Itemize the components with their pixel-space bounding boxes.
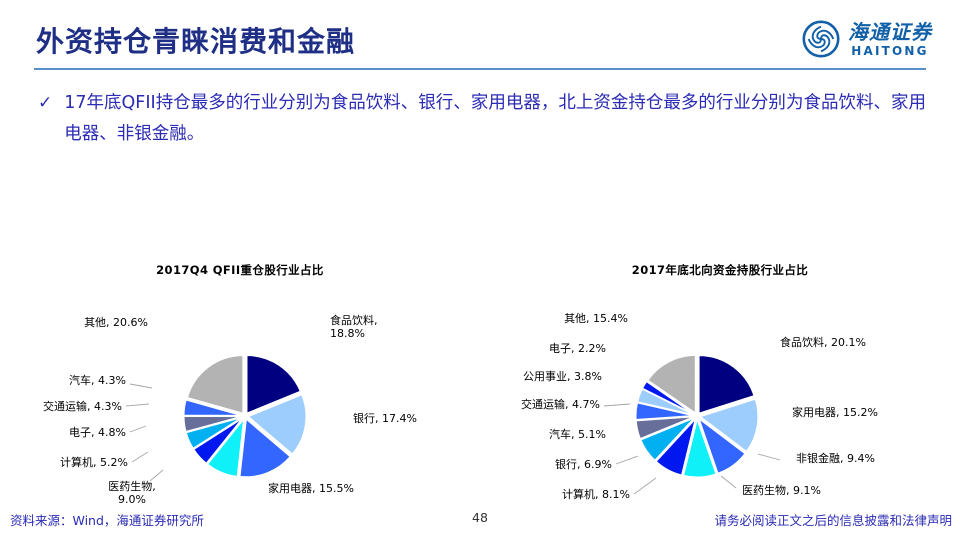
haitong-logo: 海通证券 HAITONG xyxy=(802,20,932,58)
pie-data-label: 公用事业, 3.8% xyxy=(523,370,602,383)
pie-data-label: 电子, 4.8% xyxy=(69,426,126,439)
pie-leader-line xyxy=(616,456,638,464)
logo-chinese-name: 海通证券 xyxy=(848,22,932,42)
pie-data-label: 银行, 6.9% xyxy=(555,457,612,471)
bullet-point: ✓ 17年底QFII持仓最多的行业分别为食品饮料、银行、家用电器，北上资金持仓最… xyxy=(38,88,926,150)
pie-data-label: 食品饮料,18.8% xyxy=(330,313,378,340)
pie-leader-line xyxy=(130,426,146,432)
pie-data-label: 银行, 17.4% xyxy=(353,411,417,425)
pie-chart-qfii: 食品饮料,18.8%银行, 17.4%家用电器, 15.5%医药生物,9.0%计… xyxy=(0,276,480,512)
logo-wordmark: 海通证券 HAITONG xyxy=(848,22,932,57)
pie-data-label: 家用电器, 15.5% xyxy=(268,481,354,495)
slide-footer: 资料来源：Wind，海通证券研究所 48 请务必阅读正文之后的信息披露和法律声明 xyxy=(0,510,960,532)
pie-slices-group xyxy=(636,355,758,477)
pie-data-label: 计算机, 5.2% xyxy=(60,455,128,469)
chart-qfii-holdings: 2017Q4 QFII重仓股行业占比 食品饮料,18.8%银行, 17.4%家用… xyxy=(0,262,480,512)
pie-data-label: 家用电器, 15.2% xyxy=(792,405,878,419)
pie-leader-line xyxy=(721,476,736,488)
pie-data-label: 其他, 20.6% xyxy=(84,316,148,329)
pie-data-label: 非银金融, 9.4% xyxy=(796,451,875,465)
pie-data-label: 医药生物,9.0% xyxy=(108,479,156,506)
pie-leader-line xyxy=(604,404,630,406)
pie-leader-line xyxy=(758,454,780,460)
pie-data-label: 汽车, 4.3% xyxy=(69,373,126,387)
pie-slices-group xyxy=(184,355,306,477)
bullet-text: 17年底QFII持仓最多的行业分别为食品饮料、银行、家用电器，北上资金持仓最多的… xyxy=(64,88,926,150)
pie-leader-line xyxy=(126,404,149,406)
haitong-emblem-icon xyxy=(802,20,840,58)
checkmark-icon: ✓ xyxy=(38,88,52,118)
pie-leader-line xyxy=(132,452,148,462)
slide-root: 外资持仓青睐消费和金融 海通证券 HAITONG ✓ 17年底QFII持仓最多的… xyxy=(0,0,960,540)
pie-data-label: 其他, 15.4% xyxy=(564,312,628,325)
pie-data-label: 医药生物, 9.1% xyxy=(742,483,821,497)
pie-data-label: 汽车, 5.1% xyxy=(549,427,606,441)
footer-disclaimer: 请务必阅读正文之后的信息披露和法律声明 xyxy=(714,510,952,529)
chart-northbound-holdings: 2017年底北向资金持股行业占比 食品饮料, 20.1%家用电器, 15.2%非… xyxy=(480,262,960,512)
pie-data-label: 交通运输, 4.7% xyxy=(521,397,600,411)
pie-data-label: 电子, 2.2% xyxy=(549,342,606,355)
pie-chart-northbound: 食品饮料, 20.1%家用电器, 15.2%非银金融, 9.4%医药生物, 9.… xyxy=(480,276,960,512)
pie-leader-lines-group xyxy=(126,384,163,481)
pie-leader-line xyxy=(634,478,656,494)
logo-english-name: HAITONG xyxy=(851,45,928,57)
pie-data-label: 食品饮料, 20.1% xyxy=(780,335,866,349)
page-title: 外资持仓青睐消费和金融 xyxy=(36,20,355,60)
pie-data-label: 交通运输, 4.3% xyxy=(43,399,122,413)
pie-data-label: 计算机, 8.1% xyxy=(562,487,630,501)
title-divider xyxy=(34,68,926,70)
pie-leader-line xyxy=(130,384,152,388)
